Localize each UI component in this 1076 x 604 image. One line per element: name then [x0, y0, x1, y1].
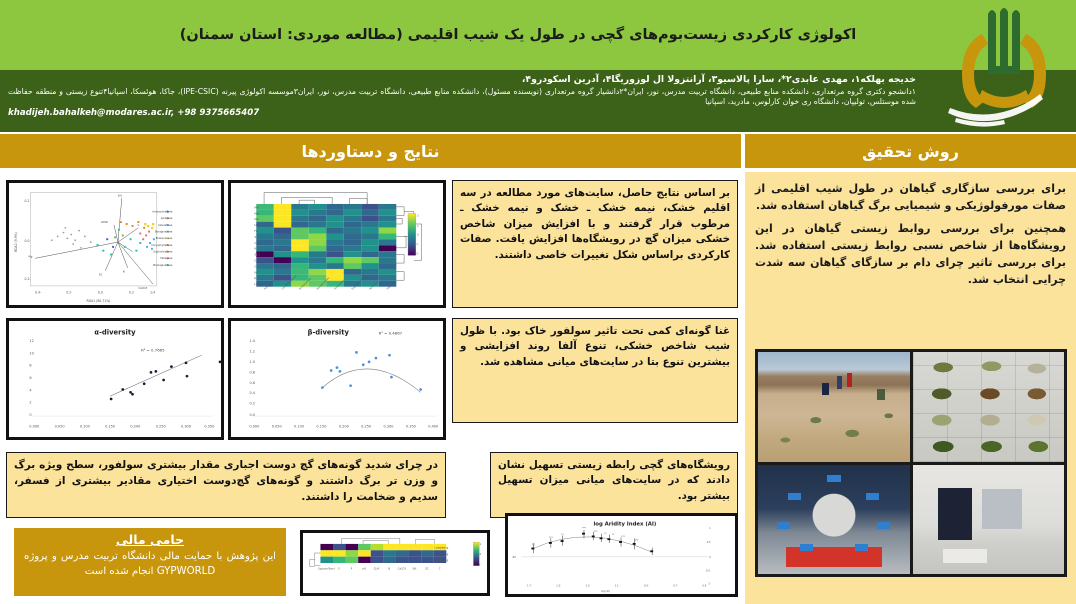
svg-text:Plantaginaceae: Plantaginaceae — [153, 263, 173, 267]
facilitation-aridity-figure: log Aridity Index (AI) 10.5 0-0.5-1 -1.7… — [505, 513, 738, 597]
svg-text:0.4: 0.4 — [249, 391, 255, 395]
svg-text:0.4: 0.4 — [150, 291, 155, 295]
page-title: اکولوژی کارکردی زیست‌بوم‌های گچی در طول … — [60, 26, 1017, 45]
affiliations-list: ۱دانشجو دکتری گروه مرتعداری، دانشکده منا… — [8, 87, 916, 107]
svg-text:Gypsum/Sand: Gypsum/Sand — [318, 567, 335, 570]
svg-text:0.200: 0.200 — [339, 425, 349, 429]
svg-text:LDMC: LDMC — [254, 282, 263, 286]
results-text-grazing: در چرای شدید گونه‌های گچ دوست اجباری مقد… — [6, 452, 446, 518]
svg-text:-1: -1 — [416, 243, 419, 246]
grazing-soil-heatmap-figure: Lowgrazing Highgrazing Middlegrazing Gyp… — [300, 530, 490, 596]
svg-text:RII: RII — [513, 556, 516, 559]
svg-text:-0.2: -0.2 — [66, 291, 72, 295]
soil-extraction-apparatus-photo — [758, 465, 910, 575]
svg-text:0.0: 0.0 — [98, 291, 103, 295]
svg-text:C: C — [138, 223, 140, 227]
trait-family-heatmap-figure: MnMgNa LThFeS CaKSLA CuCN PLDMC — [228, 180, 446, 308]
svg-text:0.350: 0.350 — [204, 425, 214, 429]
svg-text:8: 8 — [29, 364, 31, 368]
svg-text:0.000: 0.000 — [29, 425, 39, 429]
svg-text:Lowgrazing: Lowgrazing — [435, 547, 449, 550]
sponsor-title: حامی مالی — [24, 532, 276, 547]
svg-text:-1.5: -1.5 — [556, 585, 561, 588]
results-section-header: نتایج و دستاوردها — [0, 134, 741, 168]
svg-text:pH: pH — [362, 567, 366, 570]
svg-text:Ca: Ca — [254, 241, 258, 245]
svg-text:0.2: 0.2 — [129, 291, 134, 295]
svg-text:-0.7: -0.7 — [673, 585, 678, 588]
results-text-climate: بر اساس نتایج حاصل، سایت‌های مورد مطالعه… — [452, 180, 738, 308]
svg-text:Middlegrazing: Middlegrazing — [431, 559, 448, 562]
svg-text:N: N — [123, 270, 125, 274]
svg-text:Fabaceae: Fabaceae — [160, 256, 172, 260]
svg-text:0.8: 0.8 — [249, 370, 255, 374]
svg-text:Amaranthaceae: Amaranthaceae — [152, 210, 173, 214]
svg-text:P: P — [254, 276, 256, 280]
svg-text:-2: -2 — [416, 253, 419, 256]
svg-text:6: 6 — [29, 376, 31, 380]
svg-text:0.0: 0.0 — [249, 413, 255, 417]
financial-sponsor-box: حامی مالی این پژوهش با حمایت مالی دانشگا… — [14, 528, 286, 596]
svg-text:β-diversity: β-diversity — [308, 328, 350, 336]
svg-text:-0.2: -0.2 — [25, 277, 31, 281]
svg-text:-0.5: -0.5 — [706, 570, 711, 573]
svg-text:0.250: 0.250 — [361, 425, 371, 429]
svg-text:SLA: SLA — [254, 253, 260, 257]
svg-text:Mn: Mn — [254, 205, 259, 209]
svg-text:0.2: 0.2 — [25, 199, 30, 203]
svg-text:EC: EC — [99, 272, 103, 276]
svg-text:Na: Na — [254, 217, 258, 221]
svg-text:0.150: 0.150 — [105, 425, 115, 429]
svg-text:N: N — [254, 270, 256, 274]
svg-text:4: 4 — [29, 388, 31, 392]
svg-text:-1: -1 — [708, 583, 711, 586]
svg-text:Mg: Mg — [254, 211, 259, 215]
authors-band: خدیجه بهلکه۱، مهدی عابدی۲*، سارا پالاسیو… — [0, 70, 1076, 132]
svg-text:-1.7: -1.7 — [527, 585, 532, 588]
svg-text:-1.3: -1.3 — [586, 585, 591, 588]
sponsor-text: این پژوهش با حمایت مالی دانشگاه تربیت مد… — [24, 550, 276, 580]
method-section-header: روش تحقیق — [745, 134, 1076, 168]
results-text-diversity: غنا گونه‌ای کمی تحت تاثیر سولفور خاک بود… — [452, 318, 738, 423]
svg-text:0.400: 0.400 — [428, 425, 438, 429]
svg-text:Fe: Fe — [254, 229, 258, 233]
svg-text:log Aridity Index (AI): log Aridity Index (AI) — [593, 521, 656, 527]
svg-text:LTh: LTh — [254, 223, 259, 227]
dried-plant-samples-photo — [913, 352, 1065, 462]
svg-text:0.100: 0.100 — [294, 425, 304, 429]
svg-text:0.5: 0.5 — [707, 541, 711, 544]
svg-text:2: 2 — [29, 401, 31, 405]
beta-diversity-figure: β-diversity R² = 0.4867 1.41.21.0 0.80.6… — [228, 318, 446, 440]
method-photo-grid — [755, 349, 1067, 577]
svg-text:0: 0 — [29, 413, 31, 417]
svg-text:-0.9: -0.9 — [644, 585, 649, 588]
svg-text:CLAY: CLAY — [374, 567, 381, 570]
svg-text:CaCO3: CaCO3 — [138, 286, 147, 290]
svg-text:RDA1 (80.71%): RDA1 (80.71%) — [87, 299, 111, 303]
svg-text:0.000: 0.000 — [249, 425, 259, 429]
svg-text:0.050: 0.050 — [55, 425, 65, 429]
laboratory-weighing-photo — [913, 465, 1065, 575]
svg-text:LDMC: LDMC — [101, 220, 109, 224]
svg-text:0.250: 0.250 — [156, 425, 166, 429]
field-sampling-photo — [758, 352, 910, 462]
alpha-diversity-figure: α-diversity 12108 642 0 0.0000.0500.100 … — [6, 318, 224, 440]
svg-text:1.4: 1.4 — [249, 339, 255, 343]
svg-text:C: C — [254, 264, 256, 268]
svg-text:Apiaceae: Apiaceae — [161, 216, 173, 220]
results-text-facilitation: رویشگاه‌های گچی رابطه زیستی تسهیل نشان د… — [490, 452, 738, 518]
svg-text:Mg: Mg — [29, 254, 33, 258]
svg-text:0.150: 0.150 — [316, 425, 326, 429]
svg-text:0.2: 0.2 — [249, 402, 255, 406]
svg-text:1.2: 1.2 — [249, 349, 255, 353]
svg-text:log (AI): log (AI) — [601, 590, 610, 593]
svg-text:0.050: 0.050 — [272, 425, 282, 429]
svg-text:0.6: 0.6 — [249, 381, 255, 385]
svg-text:Boraginaceae: Boraginaceae — [155, 230, 173, 234]
svg-text:CaCO3: CaCO3 — [398, 567, 407, 570]
svg-text:0.300: 0.300 — [181, 425, 191, 429]
svg-text:0.350: 0.350 — [406, 425, 416, 429]
svg-text:0.300: 0.300 — [384, 425, 394, 429]
svg-text:Cu: Cu — [254, 259, 258, 263]
svg-text:N: N — [388, 567, 390, 570]
rda-biplot-figure: 0.2 0.0 -0.2 -0.4 -0.2 0.0 0.2 0.4 RDA1 … — [6, 180, 224, 308]
svg-text:(*): (*) — [532, 542, 535, 546]
svg-text:Caryophyllaceae: Caryophyllaceae — [151, 243, 173, 247]
svg-text:Brassicaceae: Brassicaceae — [156, 236, 173, 240]
svg-text:R² = 0.7665: R² = 0.7665 — [141, 347, 165, 352]
poster-header-band: اکولوژی کارکردی زیست‌بوم‌های گچی در طول … — [0, 0, 1076, 70]
svg-text:R² = 0.4867: R² = 0.4867 — [379, 330, 403, 335]
svg-text:RDA2 (9.9%): RDA2 (9.9%) — [14, 232, 18, 252]
svg-text:1.0: 1.0 — [249, 360, 255, 364]
method-paragraph-2: همچنین برای بررسی روابط زیستی گیاهان در … — [755, 220, 1066, 288]
svg-text:Euphorbiaceae: Euphorbiaceae — [153, 250, 172, 254]
poster-root: اکولوژی کارکردی زیست‌بوم‌های گچی در طول … — [0, 0, 1076, 604]
contact-email: khadijeh.bahalkeh@modares.ac.ir, +98 937… — [8, 108, 916, 118]
svg-text:-1: -1 — [479, 564, 482, 567]
method-paragraph-1: برای بررسی سازگاری گیاهان در طول شیب اقل… — [755, 180, 1066, 214]
svg-text:Asteraceae: Asteraceae — [158, 223, 173, 227]
svg-text:EC: EC — [425, 567, 429, 570]
svg-text:0.0: 0.0 — [25, 239, 30, 243]
authors-list: خدیجه بهلکه۱، مهدی عابدی۲*، سارا پالاسیو… — [8, 74, 916, 86]
university-logo — [938, 4, 1070, 130]
svg-text:Silt: Silt — [412, 567, 416, 570]
svg-text:α-diversity: α-diversity — [94, 328, 136, 336]
svg-text:0.100: 0.100 — [80, 425, 90, 429]
svg-text:10: 10 — [29, 351, 33, 355]
svg-text:S: S — [254, 235, 256, 239]
svg-text:Highgrazing: Highgrazing — [434, 553, 449, 556]
svg-text:Silt: Silt — [118, 193, 122, 197]
svg-text:-0.5: -0.5 — [702, 585, 707, 588]
svg-text:0.200: 0.200 — [130, 425, 140, 429]
svg-text:(*): (*) — [635, 538, 638, 542]
svg-text:-0.4: -0.4 — [35, 291, 41, 295]
svg-text:12: 12 — [29, 339, 33, 343]
svg-text:-1.1: -1.1 — [615, 585, 620, 588]
